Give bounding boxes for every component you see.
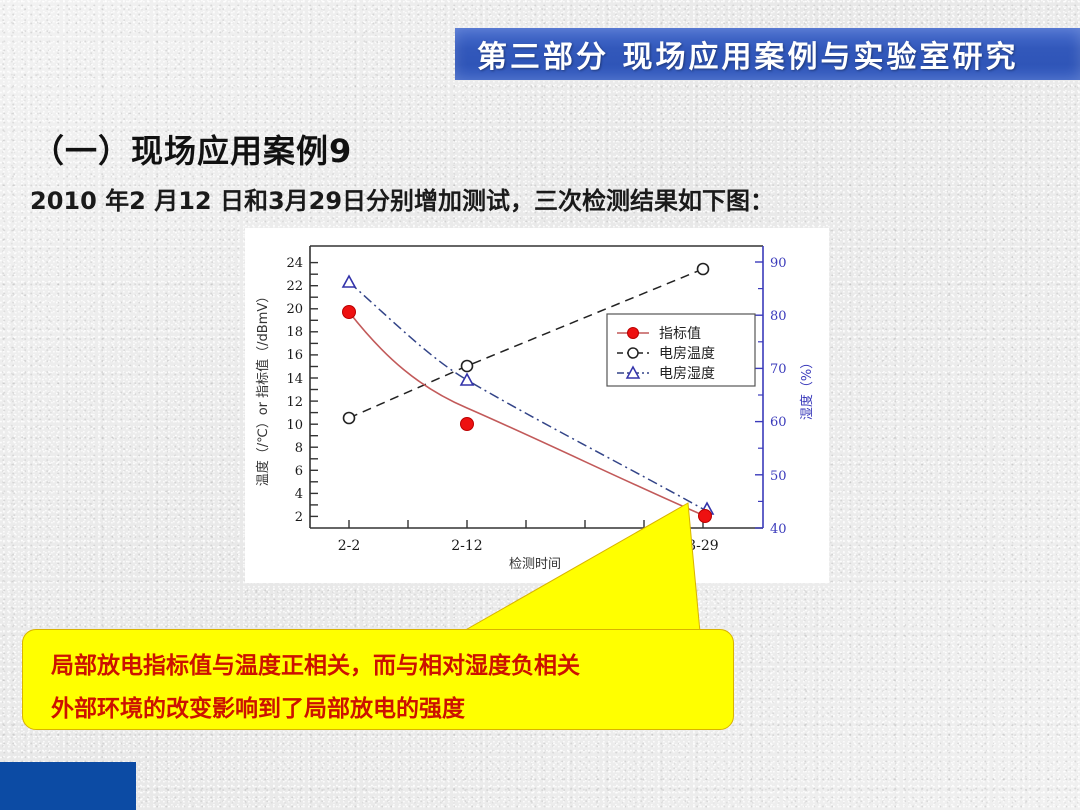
data-point-room-humidity-1 [461, 374, 473, 385]
x-axis-label: 检测时间 [509, 557, 561, 572]
left-axis-tick-labels: 2 4 6 8 10 12 14 16 18 20 22 24 [286, 256, 303, 525]
data-point-indicator-value-0 [343, 306, 356, 319]
callout-box: 局部放电指标值与温度正相关，而与相对湿度负相关 外部环境的改变影响到了局部放电的… [22, 629, 734, 730]
y-axis-right-label: 湿度（%） [799, 356, 815, 420]
svg-text:4: 4 [295, 487, 303, 502]
svg-text:70: 70 [770, 362, 787, 377]
header-banner: 第三部分 现场应用案例与实验室研究 [455, 28, 1080, 80]
slide-canvas: 第三部分 现场应用案例与实验室研究 （一）现场应用案例9 2010 年2 月12… [0, 0, 1080, 810]
y-axis-label: 温度（/℃）or 指标值（/dBmV） [255, 290, 271, 487]
svg-text:40: 40 [770, 522, 787, 537]
svg-text:12: 12 [286, 395, 303, 410]
legend-label-room-temperature: 电房温度 [659, 346, 715, 362]
x-tick-label-1: 2-12 [451, 538, 482, 554]
svg-text:60: 60 [770, 415, 787, 430]
data-point-indicator-value-1 [461, 418, 474, 431]
x-tick-label-2: 3-29 [687, 538, 718, 554]
x-axis-tick-labels: 2-2 2-12 3-29 [338, 538, 719, 554]
legend-label-indicator-value: 指标值 [659, 326, 701, 342]
svg-text:50: 50 [770, 469, 787, 484]
page-subtitle: 2010 年2 月12 日和3月29日分别增加测试，三次检测结果如下图： [30, 181, 774, 216]
x-tick-label-0: 2-2 [338, 538, 361, 554]
legend-label-room-humidity: 电房湿度 [659, 366, 715, 382]
svg-text:22: 22 [286, 279, 303, 294]
callout-text-line-2: 外部环境的改变影响到了局部放电的强度 [51, 689, 465, 723]
svg-text:16: 16 [286, 348, 303, 363]
footer-accent-bar [0, 762, 136, 810]
data-point-room-temperature-2 [698, 264, 709, 275]
chart-axes [310, 246, 763, 528]
callout-text-line-1: 局部放电指标值与温度正相关，而与相对湿度负相关 [51, 646, 580, 680]
svg-text:18: 18 [286, 325, 303, 340]
svg-text:24: 24 [286, 256, 303, 271]
svg-text:10: 10 [286, 418, 303, 433]
legend-marker-room-temperature [628, 348, 638, 358]
svg-text:20: 20 [286, 302, 303, 317]
chart-legend: 指标值 电房温度 电房湿度 [607, 314, 755, 386]
data-point-room-temperature-1 [462, 361, 473, 372]
data-point-indicator-value-2 [699, 510, 712, 523]
right-axis-tick-labels: 40 50 60 70 80 90 [770, 256, 787, 537]
right-axis-ticks [755, 262, 763, 528]
data-point-room-temperature-0 [344, 413, 355, 424]
svg-text:2: 2 [295, 510, 303, 525]
legend-marker-indicator-value [628, 328, 639, 339]
page-title: （一）现场应用案例9 [32, 126, 352, 172]
chart-svg: 2 4 6 8 10 12 14 16 18 20 22 24 温度（/℃）or… [245, 228, 829, 583]
series-line-room-humidity [343, 276, 713, 514]
svg-text:6: 6 [295, 464, 303, 479]
chart-figure: 2 4 6 8 10 12 14 16 18 20 22 24 温度（/℃）or… [245, 228, 829, 583]
svg-text:14: 14 [286, 372, 303, 387]
header-title: 第三部分 现场应用案例与实验室研究 [477, 32, 1018, 76]
svg-text:80: 80 [770, 309, 787, 324]
data-point-room-humidity-0 [343, 276, 355, 287]
svg-text:90: 90 [770, 256, 787, 271]
svg-text:8: 8 [295, 441, 303, 456]
x-axis-ticks [349, 520, 703, 528]
left-axis-ticks [310, 263, 318, 517]
